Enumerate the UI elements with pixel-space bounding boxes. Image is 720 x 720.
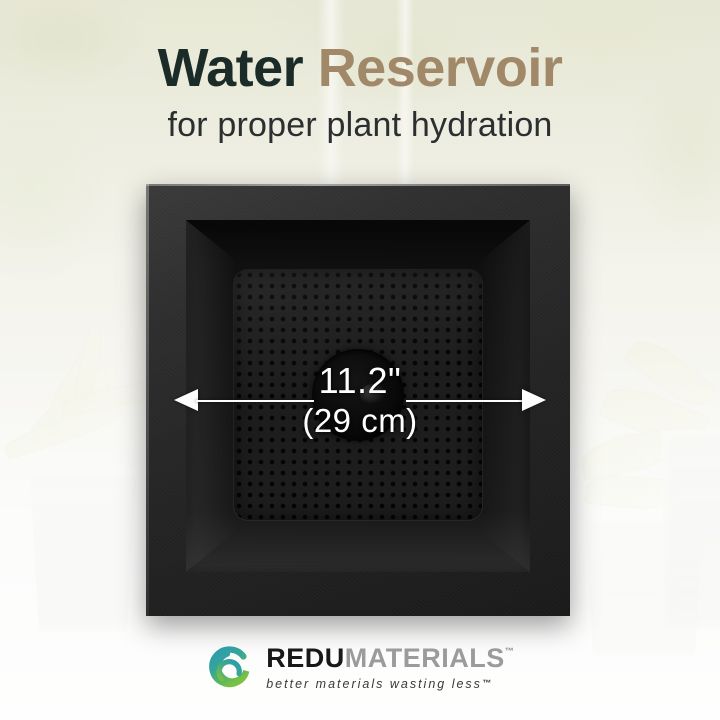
- sump-highlight: [360, 384, 386, 404]
- planter-rim-left-highlight: [146, 184, 149, 616]
- brand-tagline-text: better materials wasting less: [266, 678, 482, 691]
- center-drain-sump: [312, 349, 404, 441]
- page-subtitle: for proper plant hydration: [0, 106, 720, 145]
- brand-tagline: better materials wasting less ™: [266, 678, 514, 691]
- brand-name-primary: REDU: [266, 645, 345, 672]
- basin-wall-top: [186, 220, 530, 266]
- planter-inner-basin: [186, 220, 530, 572]
- headline-part-two: Reservoir: [318, 38, 563, 98]
- product-planter: [146, 184, 570, 616]
- brand-wordmark: REDU MATERIALS ™: [266, 645, 514, 672]
- brand-logo[interactable]: REDU MATERIALS ™ better materials wastin…: [0, 644, 720, 692]
- brand-trademark-icon: ™: [505, 647, 514, 656]
- redu-swirl-logo-icon: [206, 644, 254, 692]
- planter-rim-top-highlight: [146, 184, 570, 186]
- perforated-reservoir-floor: [234, 270, 482, 520]
- headline-part-one: Water: [158, 38, 304, 98]
- brand-tagline-trademark-icon: ™: [482, 679, 493, 688]
- brand-logo-text: REDU MATERIALS ™ better materials wastin…: [266, 645, 514, 691]
- page-title: Water Reservoir: [0, 40, 720, 97]
- product-feature-graphic: Water Reservoir for proper plant hydrati…: [0, 0, 720, 720]
- brand-name-secondary: MATERIALS: [345, 645, 505, 672]
